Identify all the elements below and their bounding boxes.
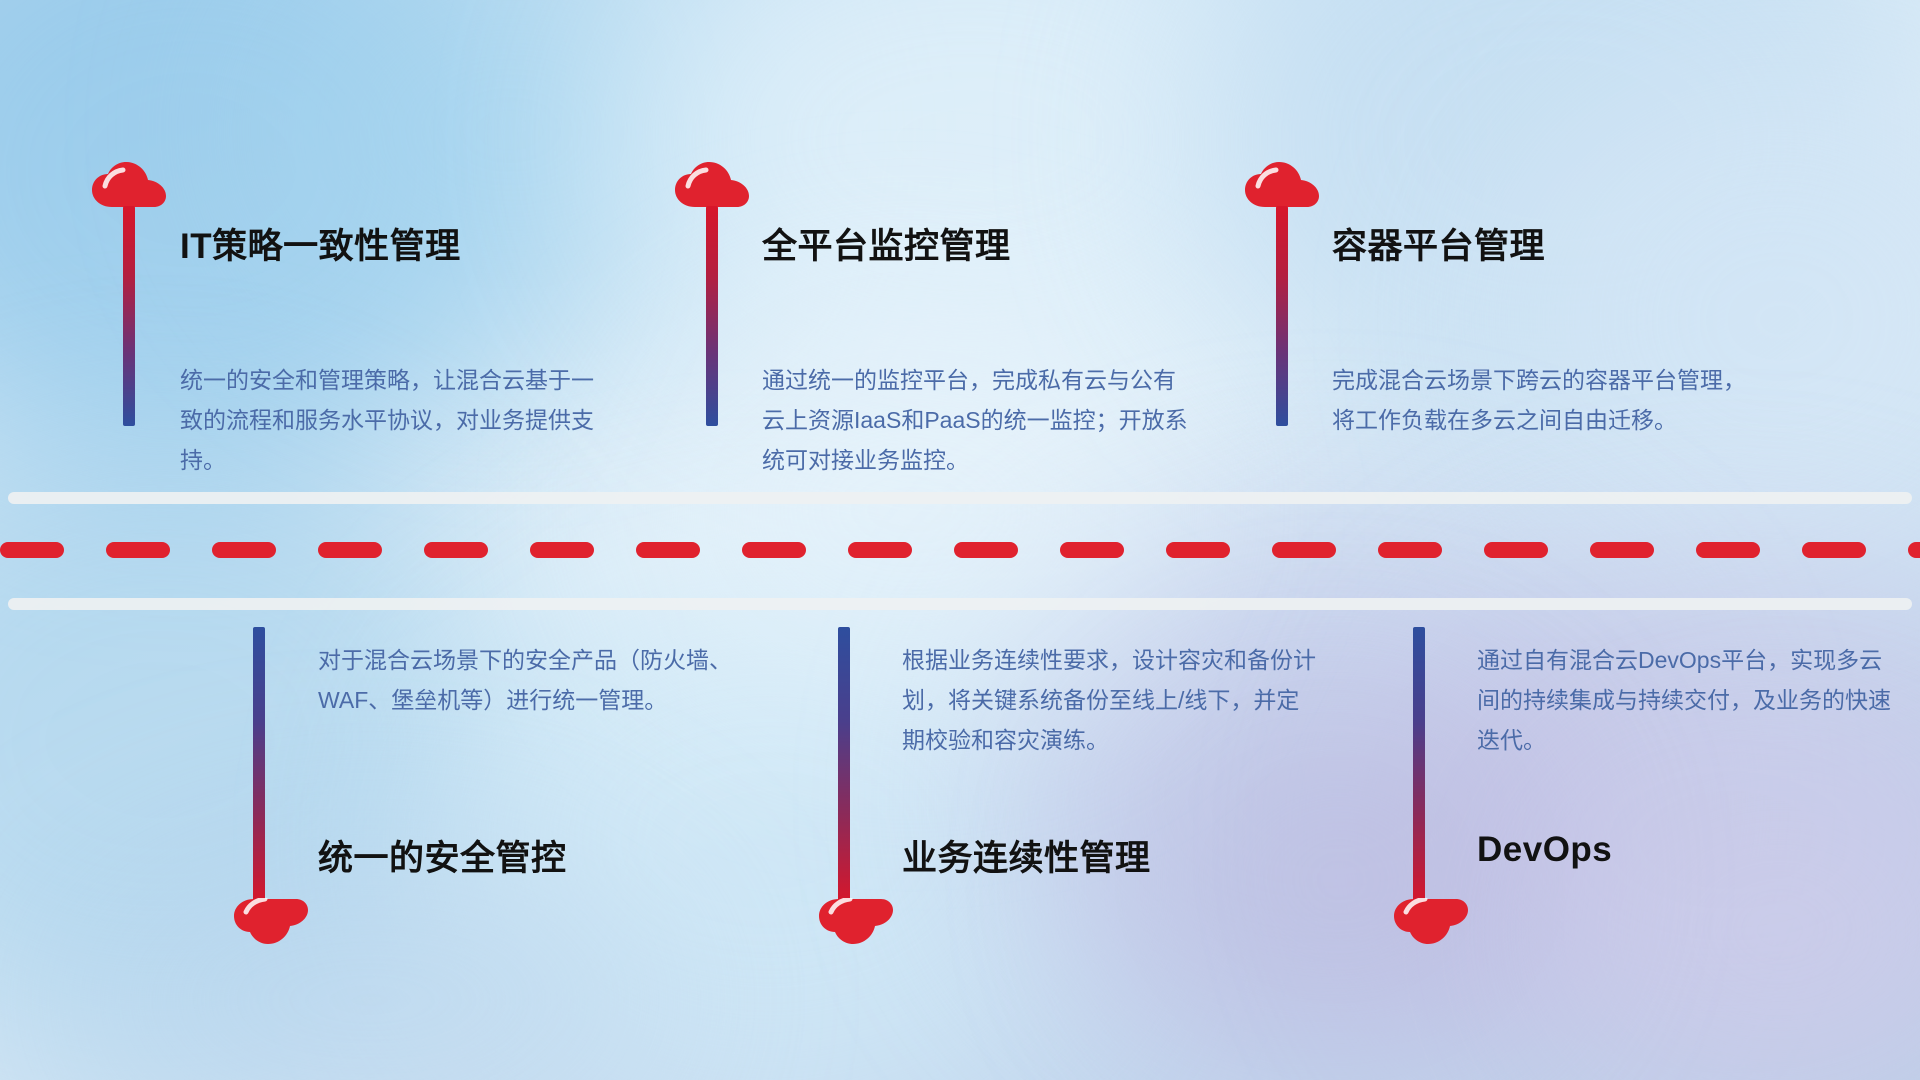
road-dash [848, 542, 912, 558]
heading-devops: DevOps [1477, 830, 1612, 870]
road-dash [1908, 542, 1920, 558]
cloud-icon [819, 898, 893, 944]
road-dash [0, 542, 64, 558]
heading-it-policy-consistency: IT策略一致性管理 [180, 218, 461, 269]
road-dash [1802, 542, 1866, 558]
body-full-platform-monitoring: 通过统一的监控平台，完成私有云与公有云上资源IaaS和PaaS的统一监控；开放系… [762, 360, 1192, 480]
road-dash [742, 542, 806, 558]
road-dash [1696, 542, 1760, 558]
road-dash [1590, 542, 1654, 558]
heading-business-continuity: 业务连续性管理 [902, 830, 1151, 881]
marker-devops-cloud[interactable] [1394, 898, 1468, 944]
road-dash [1060, 542, 1124, 558]
heading-full-platform-monitoring: 全平台监控管理 [762, 218, 1011, 269]
road-dash [106, 542, 170, 558]
marker-stem [838, 627, 850, 905]
marker-business-continuity-cloud[interactable] [819, 898, 893, 944]
cloud-icon [675, 162, 749, 208]
marker-stem [1413, 627, 1425, 905]
cloud-icon [92, 162, 166, 208]
road-dash [954, 542, 1018, 558]
road-line-bottom [8, 598, 1912, 610]
body-container-platform: 完成混合云场景下跨云的容器平台管理，将工作负载在多云之间自由迁移。 [1332, 360, 1762, 440]
marker-unified-security-cloud[interactable] [234, 898, 308, 944]
marker-stem [253, 627, 265, 905]
marker-stem [123, 206, 135, 426]
road-dash [636, 542, 700, 558]
infographic-canvas: IT策略一致性管理 统一的安全和管理策略，让混合云基于一致的流程和服务水平协议，… [0, 0, 1920, 1080]
road-dash [1378, 542, 1442, 558]
heading-container-platform: 容器平台管理 [1332, 218, 1545, 269]
body-it-policy-consistency: 统一的安全和管理策略，让混合云基于一致的流程和服务水平协议，对业务提供支持。 [180, 360, 610, 480]
marker-stem [1276, 206, 1288, 426]
road-line-top [8, 492, 1912, 504]
marker-full-platform-monitoring[interactable] [675, 162, 749, 208]
road-dash [212, 542, 276, 558]
road-dash [1166, 542, 1230, 558]
road-dash-strip [0, 542, 1920, 558]
body-business-continuity: 根据业务连续性要求，设计容灾和备份计划，将关键系统备份至线上/线下，并定期校验和… [902, 640, 1322, 760]
marker-it-policy-consistency[interactable] [92, 162, 166, 208]
road-dash [424, 542, 488, 558]
marker-stem [706, 206, 718, 426]
heading-unified-security: 统一的安全管控 [318, 830, 567, 881]
body-unified-security: 对于混合云场景下的安全产品（防火墙、WAF、堡垒机等）进行统一管理。 [318, 640, 738, 720]
road-dash [1484, 542, 1548, 558]
road-dash [1272, 542, 1336, 558]
body-devops: 通过自有混合云DevOps平台，实现多云间的持续集成与持续交付，及业务的快速迭代… [1477, 640, 1897, 760]
road-dash [530, 542, 594, 558]
marker-container-platform[interactable] [1245, 162, 1319, 208]
cloud-icon [1394, 898, 1468, 944]
road-dash [318, 542, 382, 558]
cloud-icon [234, 898, 308, 944]
cloud-icon [1245, 162, 1319, 208]
